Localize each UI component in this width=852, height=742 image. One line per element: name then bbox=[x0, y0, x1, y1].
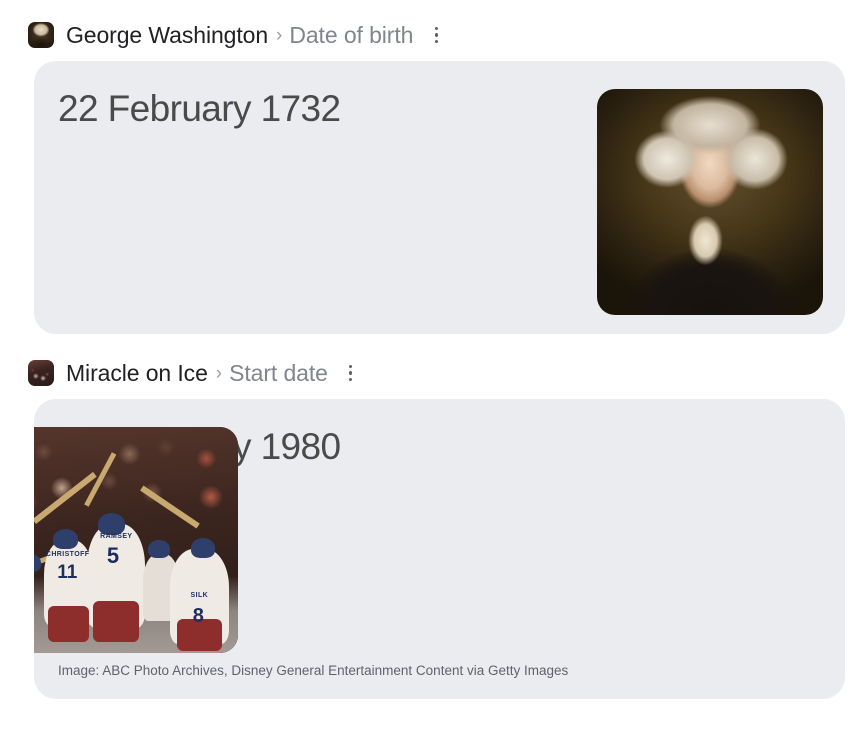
breadcrumb-separator: › bbox=[276, 26, 282, 45]
jersey-name-christoff: CHRISTOFF bbox=[46, 551, 90, 558]
jersey-number-5: 5 bbox=[107, 545, 119, 567]
answer-card-miracle-on-ice: 22 February 1980 Image: ABC Photo Archiv… bbox=[34, 399, 845, 699]
george-washington-portrait-image[interactable] bbox=[597, 89, 823, 315]
george-washington-portrait-favicon bbox=[28, 22, 54, 48]
breadcrumb-separator: › bbox=[216, 364, 222, 383]
jersey-number-11: 11 bbox=[57, 563, 77, 582]
property-label-start-date[interactable]: Start date bbox=[229, 360, 328, 387]
results-page: George Washington › Date of birth 22 Feb… bbox=[0, 18, 852, 742]
dot bbox=[349, 378, 352, 381]
entity-title-george-washington[interactable]: George Washington bbox=[66, 22, 268, 49]
dot bbox=[349, 371, 352, 374]
entry-header-george-washington: George Washington › Date of birth bbox=[0, 18, 852, 52]
player-helmet bbox=[148, 540, 171, 558]
player-helmet bbox=[191, 538, 216, 558]
jersey-number-8: 8 bbox=[193, 606, 204, 626]
answer-card-george-washington: 22 February 1732 bbox=[34, 61, 845, 334]
player-shorts bbox=[48, 606, 89, 642]
answer-value-date-of-birth: 22 February 1732 bbox=[58, 88, 340, 130]
property-label-date-of-birth[interactable]: Date of birth bbox=[289, 22, 413, 49]
player-helmet bbox=[53, 529, 78, 549]
miracle-on-ice-favicon bbox=[28, 360, 54, 386]
more-vert-icon[interactable] bbox=[427, 24, 445, 46]
player-shorts bbox=[93, 601, 138, 642]
entity-title-miracle-on-ice[interactable]: Miracle on Ice bbox=[66, 360, 208, 387]
jersey-name-ramsey: RAMSEY bbox=[100, 533, 132, 540]
dot bbox=[435, 27, 438, 30]
miracle-on-ice-image[interactable]: CHRISTOFF 11 RAMSEY 5 SILK 8 bbox=[34, 427, 238, 653]
dot bbox=[435, 33, 438, 36]
more-vert-icon[interactable] bbox=[342, 362, 360, 384]
dot bbox=[349, 365, 352, 368]
image-credit-text: Image: ABC Photo Archives, Disney Genera… bbox=[58, 661, 578, 681]
player-helmet bbox=[98, 513, 125, 536]
dot bbox=[435, 40, 438, 43]
entry-header-miracle-on-ice: Miracle on Ice › Start date bbox=[0, 356, 852, 390]
jersey-name-silk: SILK bbox=[191, 592, 209, 599]
